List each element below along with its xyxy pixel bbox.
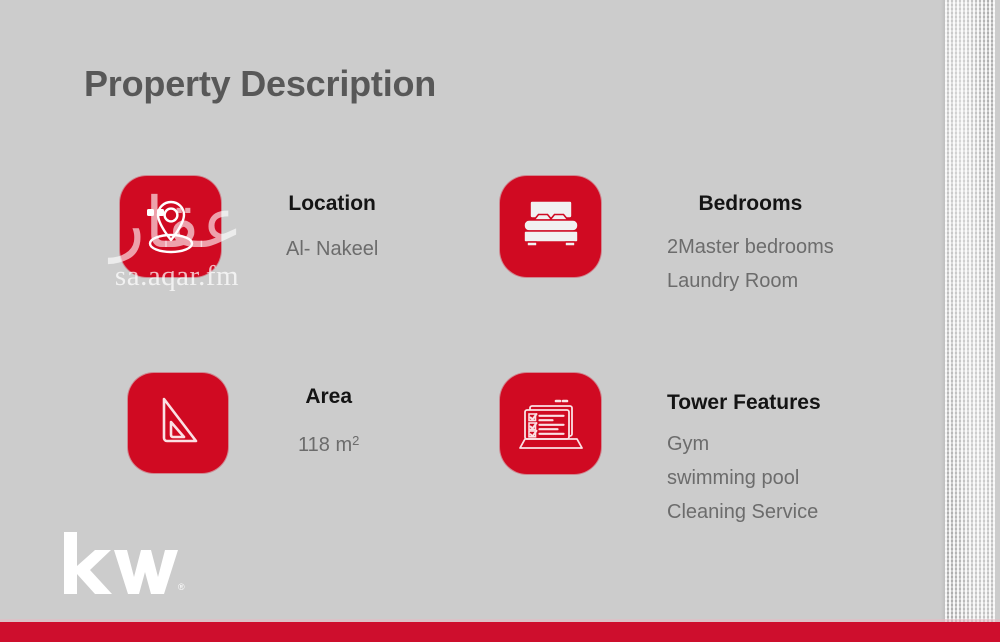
kw-logo: ® xyxy=(58,532,188,594)
bottom-accent-bar xyxy=(0,622,1000,642)
kw-trademark: ® xyxy=(178,582,185,592)
bedrooms-text-column: Bedrooms 2Master bedrooms Laundry Room xyxy=(667,176,834,304)
fabric-texture-strip xyxy=(945,0,995,622)
feature-line-area-0: 118 m2 xyxy=(298,433,359,457)
location-pin-icon xyxy=(135,191,207,263)
feature-title-area: Area xyxy=(305,385,352,409)
set-square-ruler-icon xyxy=(147,392,209,454)
feature-bedrooms: Bedrooms 2Master bedrooms Laundry Room xyxy=(500,176,834,304)
feature-line-tower-2: Cleaning Service xyxy=(667,501,821,524)
tower-features-icon-tile xyxy=(500,373,601,474)
feature-line-tower-1: swimming pool xyxy=(667,467,821,490)
feature-location: Location Al- Nakeel xyxy=(120,176,378,277)
area-text-column: Area 118 m2 xyxy=(298,373,359,457)
feature-line-bedrooms-1: Laundry Room xyxy=(667,270,834,293)
area-value: 118 m xyxy=(298,434,352,456)
tower-features-text-column: Tower Features Gym swimming pool Cleanin… xyxy=(667,373,821,535)
feature-title-tower: Tower Features xyxy=(667,391,821,415)
feature-title-location: Location xyxy=(288,192,376,216)
slide-canvas: Property Description Location Al- Nakeel… xyxy=(0,0,1000,642)
location-text-column: Location Al- Nakeel xyxy=(286,176,378,261)
bedrooms-icon-tile xyxy=(500,176,601,277)
page-title: Property Description xyxy=(84,63,436,105)
laptop-checklist-icon xyxy=(516,393,586,455)
feature-line-tower-0: Gym xyxy=(667,433,821,456)
location-icon-tile xyxy=(120,176,221,277)
feature-title-bedrooms: Bedrooms xyxy=(698,192,802,216)
feature-line-bedrooms-0: 2Master bedrooms xyxy=(667,236,834,259)
feature-area: Area 118 m2 xyxy=(128,373,359,473)
bed-icon xyxy=(517,197,585,257)
area-icon-tile xyxy=(128,373,228,473)
area-unit-superscript: 2 xyxy=(352,433,359,448)
feature-line-location-0: Al- Nakeel xyxy=(286,238,378,261)
feature-tower: Tower Features Gym swimming pool Cleanin… xyxy=(500,373,821,535)
